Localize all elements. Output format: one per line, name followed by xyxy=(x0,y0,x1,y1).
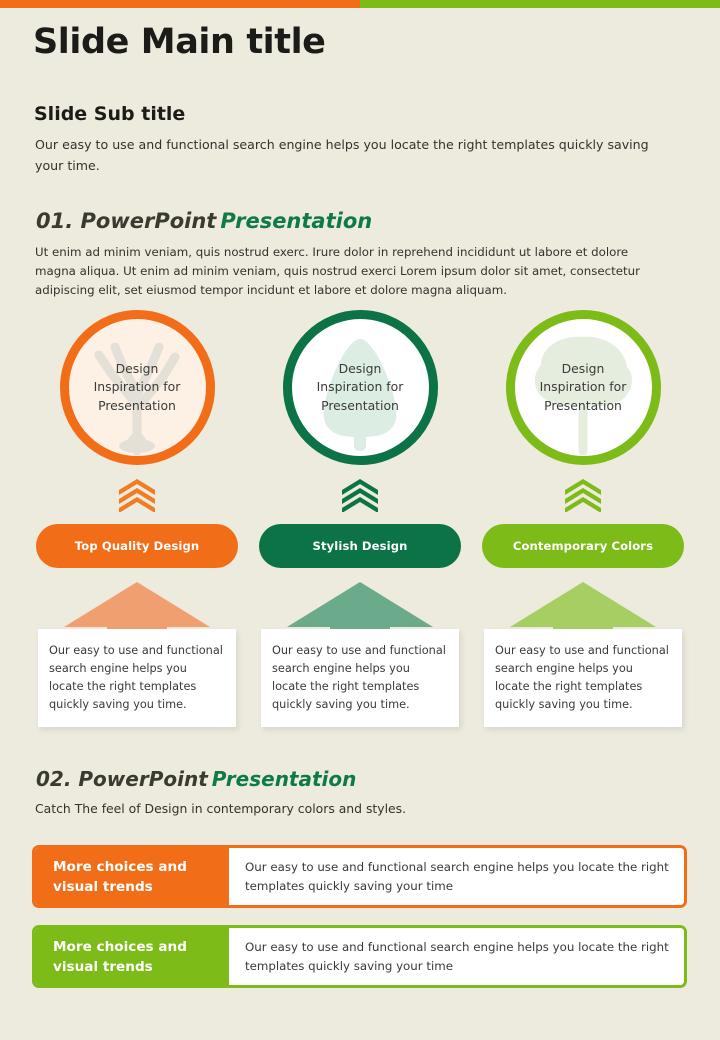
section-1-heading: 01. PowerPointPresentation xyxy=(36,209,372,233)
info-bar-text-value: Our easy to use and functional search en… xyxy=(245,858,670,896)
page-subtitle: Slide Sub title xyxy=(34,103,185,125)
feature-circle-text-line-1: Design xyxy=(94,360,181,379)
triple-chevron-up-icon xyxy=(117,478,157,512)
feature-pill-label: Top Quality Design xyxy=(75,539,199,553)
section-1-heading-highlight: Presentation xyxy=(216,209,372,233)
feature-column: Design Inspiration for Presentation Styl… xyxy=(259,310,461,706)
feature-card-text: Our easy to use and functional search en… xyxy=(49,644,223,711)
section-2-description: Catch The feel of Design in contemporary… xyxy=(35,801,406,816)
top-accent-bar-right xyxy=(360,0,720,8)
info-bar-label-line-2: visual trends xyxy=(53,957,187,977)
section-2-heading: 02. PowerPointPresentation xyxy=(36,767,356,791)
info-bar-label-line-1: More choices and xyxy=(53,937,187,957)
feature-pill-button[interactable]: Top Quality Design xyxy=(36,524,238,568)
feature-circle-text: Design Inspiration for Presentation xyxy=(94,360,181,416)
feature-circle-text: Design Inspiration for Presentation xyxy=(540,360,627,416)
feature-pill-label: Contemporary Colors xyxy=(513,539,653,553)
section-1-description: Ut enim ad minim veniam, quis nostrud ex… xyxy=(35,243,650,300)
feature-circle[interactable]: Design Inspiration for Presentation xyxy=(60,310,215,465)
feature-circle[interactable]: Design Inspiration for Presentation xyxy=(283,310,438,465)
feature-circle-wrap: Design Inspiration for Presentation xyxy=(60,310,215,465)
feature-circle-text-line-3: Presentation xyxy=(94,397,181,416)
feature-card-text: Our easy to use and functional search en… xyxy=(495,644,669,711)
feature-circle-text-line-2: Inspiration for xyxy=(94,378,181,397)
feature-circle[interactable]: Design Inspiration for Presentation xyxy=(506,310,661,465)
info-bar[interactable]: More choices and visual trends Our easy … xyxy=(32,925,687,988)
info-bar-text: Our easy to use and functional search en… xyxy=(229,848,684,905)
feature-arrow-card: Our easy to use and functional search en… xyxy=(482,581,684,706)
feature-circle-wrap: Design Inspiration for Presentation xyxy=(506,310,661,465)
info-bar[interactable]: More choices and visual trends Our easy … xyxy=(32,845,687,908)
feature-pill-label: Stylish Design xyxy=(313,539,408,553)
top-accent-bar-left xyxy=(0,0,360,8)
page-title: Slide Main title xyxy=(33,22,326,62)
info-bar-text: Our easy to use and functional search en… xyxy=(229,928,684,985)
feature-circle-text-line-2: Inspiration for xyxy=(540,378,627,397)
top-accent-bar xyxy=(0,0,720,8)
feature-card: Our easy to use and functional search en… xyxy=(38,629,236,727)
triple-chevron-up-icon xyxy=(563,478,603,512)
info-bar-label: More choices and visual trends xyxy=(35,848,229,905)
feature-arrow-card: Our easy to use and functional search en… xyxy=(36,581,238,706)
feature-circle-text-line-1: Design xyxy=(317,360,404,379)
info-bar-label-line-1: More choices and xyxy=(53,857,187,877)
feature-circle-text: Design Inspiration for Presentation xyxy=(317,360,404,416)
feature-column: Design Inspiration for Presentation Cont… xyxy=(482,310,684,706)
feature-card: Our easy to use and functional search en… xyxy=(484,629,682,727)
feature-column: Design Inspiration for Presentation Top … xyxy=(36,310,238,706)
feature-card: Our easy to use and functional search en… xyxy=(261,629,459,727)
section-2-heading-number: 02. PowerPoint xyxy=(36,767,208,791)
info-bar-label-line-2: visual trends xyxy=(53,877,187,897)
feature-arrow-card: Our easy to use and functional search en… xyxy=(259,581,461,706)
feature-circle-wrap: Design Inspiration for Presentation xyxy=(283,310,438,465)
section-2-heading-highlight: Presentation xyxy=(208,767,357,791)
triple-chevron-up-icon xyxy=(340,478,380,512)
feature-circle-text-line-3: Presentation xyxy=(317,397,404,416)
feature-pill-button[interactable]: Contemporary Colors xyxy=(482,524,684,568)
feature-circle-text-line-1: Design xyxy=(540,360,627,379)
feature-circle-text-line-3: Presentation xyxy=(540,397,627,416)
section-1-heading-number: 01. PowerPoint xyxy=(36,209,216,233)
feature-pill-button[interactable]: Stylish Design xyxy=(259,524,461,568)
info-bar-label: More choices and visual trends xyxy=(35,928,229,985)
feature-circle-text-line-2: Inspiration for xyxy=(317,378,404,397)
page-subtitle-description: Our easy to use and functional search en… xyxy=(35,134,660,176)
info-bar-text-value: Our easy to use and functional search en… xyxy=(245,938,670,976)
feature-card-text: Our easy to use and functional search en… xyxy=(272,644,446,711)
